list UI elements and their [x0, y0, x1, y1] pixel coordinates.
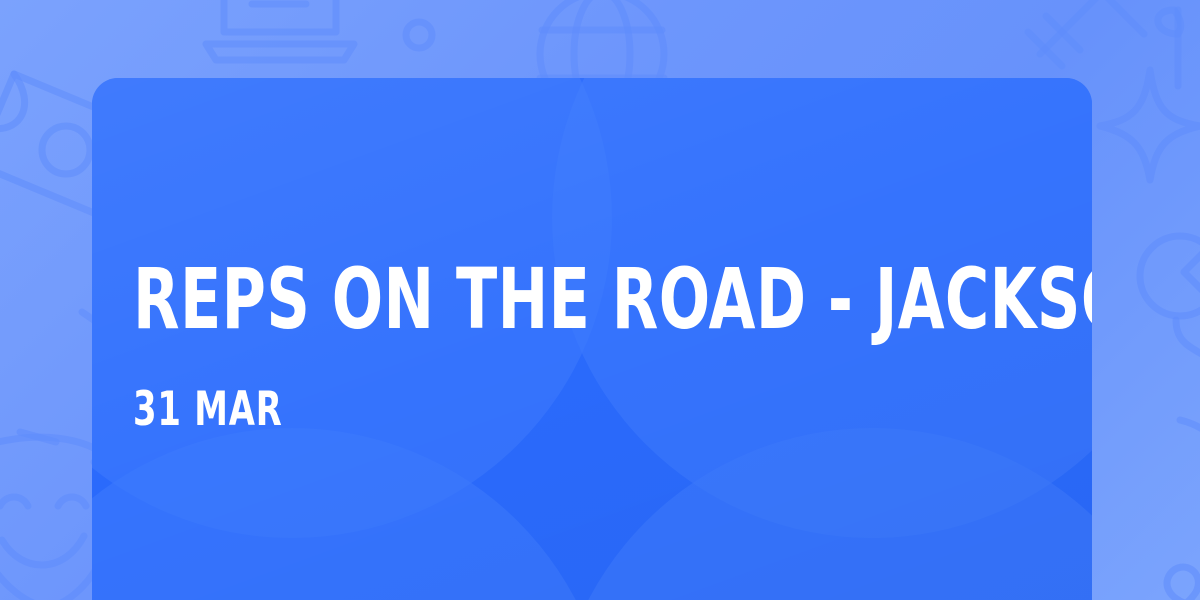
event-title: REPS ON THE ROAD - JACKSON: [133, 257, 1092, 341]
dot-icon: [396, 12, 442, 58]
card-content: REPS ON THE ROAD - JACKSON 31 MAR: [133, 78, 1092, 600]
sparkle-icon: [1090, 58, 1200, 188]
event-banner: REPS ON THE ROAD - JACKSON 31 MAR: [0, 0, 1200, 600]
laptop-icon: [186, 0, 366, 90]
microphone-icon: [1128, 228, 1200, 408]
event-card[interactable]: REPS ON THE ROAD - JACKSON 31 MAR: [92, 78, 1092, 600]
plant-icon: [1148, 0, 1200, 100]
event-date: 31 MAR: [133, 386, 1092, 433]
